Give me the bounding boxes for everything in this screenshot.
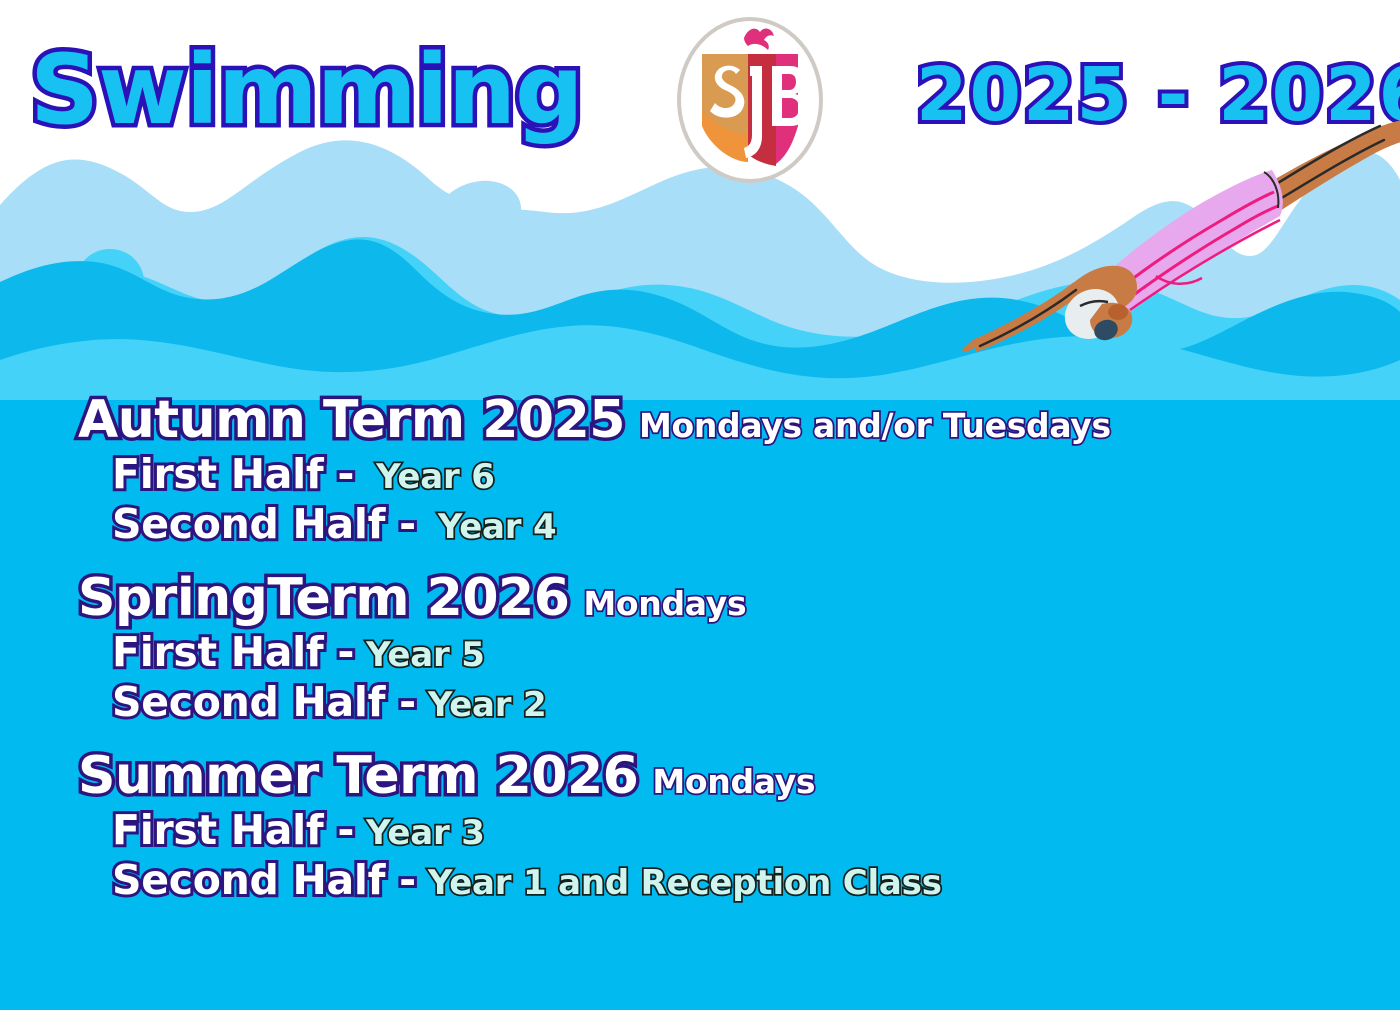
term-heading-row: Autumn Term 2025 Mondays and/or Tuesdays <box>0 392 1400 448</box>
half-label: Second Half - <box>112 858 416 904</box>
term-half-row: First Half - Year 3 <box>0 808 1400 854</box>
term-title: Summer Term 2026 <box>78 748 638 804</box>
term-block-spring: SpringTerm 2026 Mondays First Half - Yea… <box>0 570 1400 726</box>
term-days: Mondays <box>583 586 746 622</box>
half-value: Year 4 <box>438 508 557 546</box>
diving-swimmer-icon <box>960 100 1400 360</box>
half-label: Second Half - <box>112 502 416 548</box>
half-label: First Half - <box>112 452 354 498</box>
term-title: Autumn Term 2025 <box>78 392 625 448</box>
term-heading-row: SpringTerm 2026 Mondays <box>0 570 1400 626</box>
half-value: Year 5 <box>366 636 485 674</box>
term-half-row: First Half - Year 6 <box>0 452 1400 498</box>
half-value: Year 3 <box>366 814 485 852</box>
term-heading-row: Summer Term 2026 Mondays <box>0 748 1400 804</box>
half-value: Year 1 and Reception Class <box>428 864 942 902</box>
half-value: Year 6 <box>376 458 495 496</box>
term-half-row: Second Half - Year 4 <box>0 502 1400 548</box>
half-label: First Half - <box>112 630 354 676</box>
term-days: Mondays and/or Tuesdays <box>639 408 1111 444</box>
sjb-school-crest-icon <box>672 14 828 186</box>
term-half-row: First Half - Year 5 <box>0 630 1400 676</box>
term-half-row: Second Half - Year 1 and Reception Class <box>0 858 1400 904</box>
term-block-autumn: Autumn Term 2025 Mondays and/or Tuesdays… <box>0 392 1400 548</box>
term-half-row: Second Half - Year 2 <box>0 680 1400 726</box>
swimming-timetable-poster: Swimming 2025 - 2026 <box>0 0 1400 1010</box>
half-label: First Half - <box>112 808 354 854</box>
term-block-summer: Summer Term 2026 Mondays First Half - Ye… <box>0 748 1400 904</box>
half-label: Second Half - <box>112 680 416 726</box>
term-title: SpringTerm 2026 <box>78 570 569 626</box>
term-days: Mondays <box>652 764 815 800</box>
half-value: Year 2 <box>428 686 547 724</box>
terms-list: Autumn Term 2025 Mondays and/or Tuesdays… <box>0 392 1400 926</box>
